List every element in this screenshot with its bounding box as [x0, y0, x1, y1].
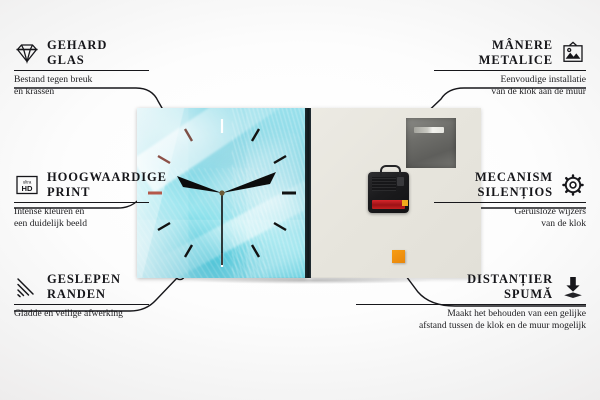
clock-hands — [177, 172, 276, 265]
mechanism-knob — [397, 177, 404, 186]
feature-subtitle-line1: Maakt het behouden van een gelijke — [356, 308, 586, 320]
feature-title-line1: GEHARD — [47, 38, 107, 53]
battery-plus-terminal — [402, 200, 408, 206]
feature-subtitle-line1: Gladde en veilige afwerking — [14, 308, 149, 320]
battery — [372, 200, 405, 209]
picture-hanger-icon — [560, 40, 586, 66]
hand-cap — [219, 190, 224, 195]
feature-header: ultra HD HOOGWAARDIGE PRINT — [14, 170, 149, 199]
hour-hand — [177, 176, 222, 193]
feature-rule — [14, 304, 149, 305]
feature-rule — [434, 202, 586, 203]
feature-tempered-glass: GEHARD GLAS Bestand tegen breuk en krass… — [14, 38, 149, 98]
feature-title-line1: DISTANȚIER — [467, 272, 553, 287]
feature-subtitle-line2: van de klok — [434, 218, 586, 230]
minute-hand — [222, 172, 276, 193]
feature-subtitle-line1: Geruisloze wijzers — [434, 206, 586, 218]
down-arrow-stack-icon — [560, 274, 586, 300]
feature-subtitle-line1: Intense kleuren en — [14, 206, 149, 218]
foam-spacer-pad — [392, 250, 405, 263]
feature-silent-mechanism: MECANISM SILENȚIOS — [434, 170, 586, 230]
ultra-hd-icon: ultra HD — [14, 172, 40, 198]
feature-subtitle-line1: Eenvoudige installatie — [434, 74, 586, 86]
feature-header: MECANISM SILENȚIOS — [434, 170, 586, 199]
feature-subtitle-line2: een duidelijk beeld — [14, 218, 149, 230]
mechanism-grill — [372, 177, 396, 191]
feature-title-line2: RANDEN — [47, 287, 121, 302]
feature-rule — [14, 202, 149, 203]
feature-title-line2: METALICE — [479, 53, 553, 68]
feature-header: DISTANȚIER SPUMĂ — [356, 272, 586, 301]
feature-title-line1: GESLEPEN — [47, 272, 121, 287]
feature-header: GESLEPEN RANDEN — [14, 272, 149, 301]
feature-title-line2: SILENȚIOS — [475, 185, 553, 200]
feature-title-line1: HOOGWAARDIGE — [47, 170, 167, 185]
mechanism-hanging-loop — [380, 165, 401, 176]
feature-title-line1: MÂNERE — [479, 38, 553, 53]
hanger-slot — [414, 127, 444, 133]
gear-icon — [560, 172, 586, 198]
diamond-icon — [14, 40, 40, 66]
feature-subtitle-line2: en krassen — [14, 86, 149, 98]
feature-rule — [434, 70, 586, 71]
feature-metal-handles: MÂNERE METALICE Eenvoudige installatie v… — [434, 38, 586, 98]
feature-subtitle-line2: afstand tussen de klok en de muur mogeli… — [356, 320, 586, 332]
infographic-canvas: GEHARD GLAS Bestand tegen breuk en krass… — [0, 0, 600, 400]
feature-header: MÂNERE METALICE — [434, 38, 586, 67]
feature-title-line2: PRINT — [47, 185, 167, 200]
feature-title-line2: GLAS — [47, 53, 107, 68]
feature-rule — [14, 70, 149, 71]
clock-mechanism-box — [368, 172, 409, 213]
metal-hanger-plate — [406, 118, 456, 168]
feature-high-quality-print: ultra HD HOOGWAARDIGE PRINT Intense kleu… — [14, 170, 149, 230]
feature-subtitle-line2: van de klok aan de muur — [434, 86, 586, 98]
svg-text:HD: HD — [22, 184, 33, 193]
feature-header: GEHARD GLAS — [14, 38, 149, 67]
feature-title-line2: SPUMĂ — [467, 287, 553, 302]
feature-polished-edges: GESLEPEN RANDEN Gladde en veilige afwerk… — [14, 272, 149, 320]
feature-title-line1: MECANISM — [475, 170, 553, 185]
feature-foam-spacer: DISTANȚIER SPUMĂ Maakt het behouden van … — [356, 272, 586, 332]
feature-subtitle-line1: Bestand tegen breuk — [14, 74, 149, 86]
feature-rule — [356, 304, 586, 305]
polished-edges-icon — [14, 274, 40, 300]
